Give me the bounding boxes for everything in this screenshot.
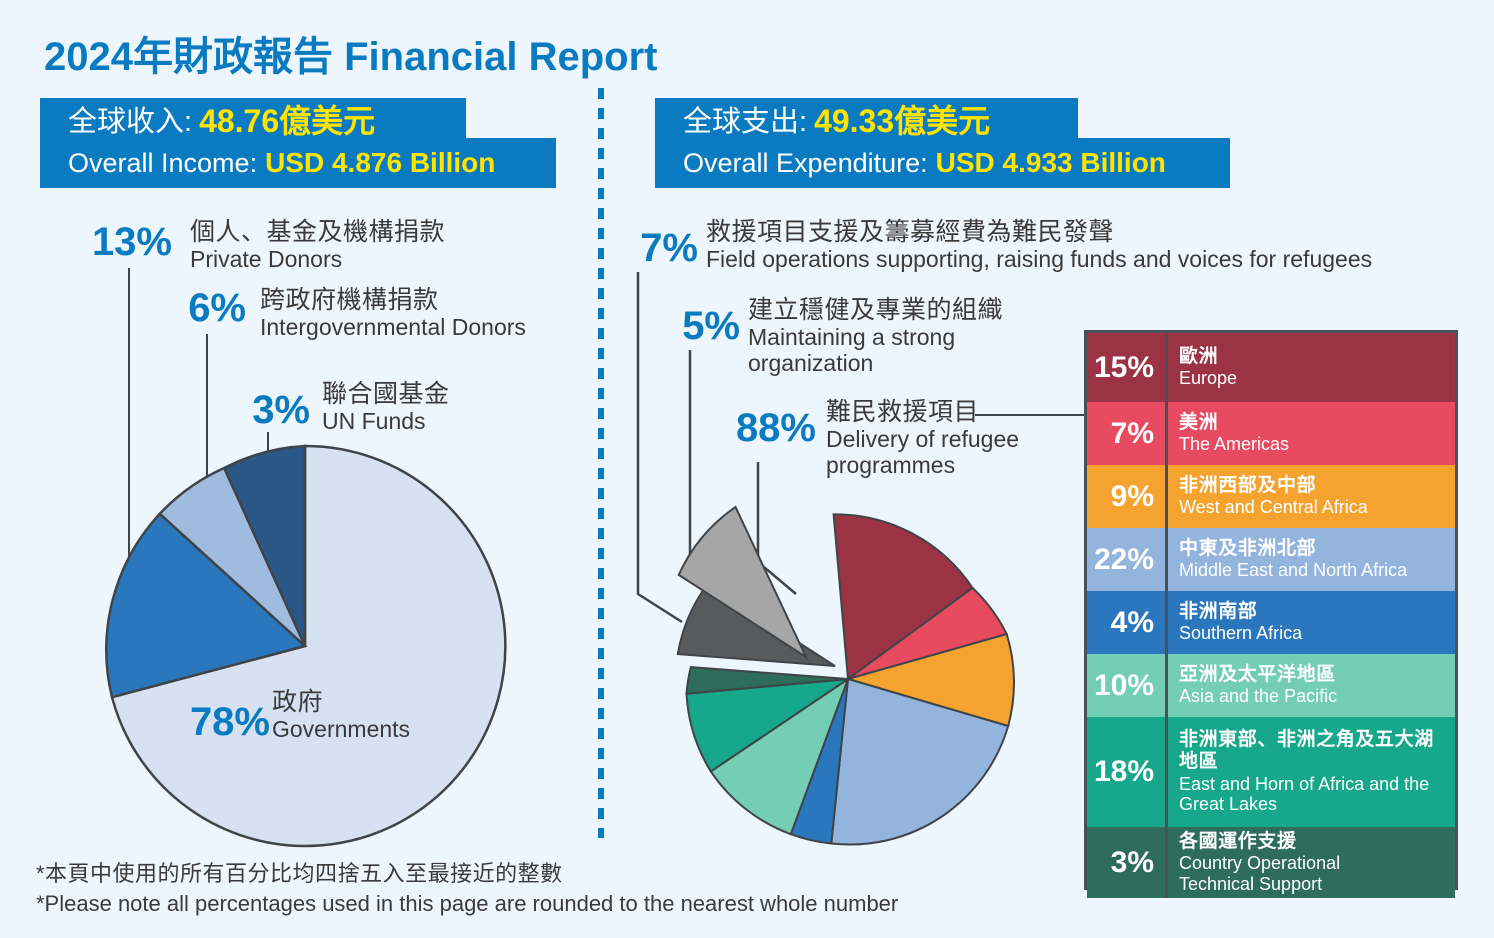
legend-en-americas: The Americas <box>1179 434 1455 455</box>
income-pie-svg <box>100 440 512 852</box>
legend-text-southern-africa: 非洲南部 Southern Africa <box>1168 591 1455 654</box>
legend-text-country-operational-support: 各國運作支援 Country Operational Technical Sup… <box>1168 827 1455 898</box>
expenditure-pie-chart <box>630 495 1050 875</box>
income-en-value: USD 4.876 Billion <box>265 147 495 179</box>
legend-row-americas[interactable]: 7% 美洲 The Americas <box>1087 402 1455 465</box>
income-label-intergov-donors: 跨政府機構捐款 Intergovernmental Donors <box>260 286 526 340</box>
legend-pct-middle-east-north-africa: 22% <box>1087 528 1168 591</box>
income-pct-private-donors: 13% <box>88 222 172 262</box>
page-title-en: Financial Report <box>344 35 657 79</box>
legend-pct-europe: 15% <box>1087 333 1168 402</box>
income-pct-governments: 78% <box>160 702 270 742</box>
legend-en-east-horn-africa: East and Horn of Africa and the Great La… <box>1179 774 1434 815</box>
page-title-zh: 2024年財政報告 <box>44 35 333 79</box>
income-label-un-funds-en: UN Funds <box>322 408 450 434</box>
legend-text-middle-east-north-africa: 中東及非洲北部 Middle East and North Africa <box>1168 528 1455 591</box>
legend-row-east-horn-africa[interactable]: 18% 非洲東部、非洲之角及五大湖地區 East and Horn of Afr… <box>1087 717 1455 827</box>
income-banner-row-en: Overall Income: USD 4.876 Billion <box>40 138 556 188</box>
income-label-private-donors: 個人、基金及機構捐款 Private Donors <box>190 218 445 272</box>
legend-zh-country-operational-support: 各國運作支援 <box>1179 831 1455 853</box>
legend-pct-asia-pacific: 10% <box>1087 654 1168 717</box>
income-label-un-funds: 聯合國基金 UN Funds <box>322 380 450 434</box>
legend-row-europe[interactable]: 15% 歐洲 Europe <box>1087 333 1455 402</box>
legend-row-country-operational-support[interactable]: 3% 各國運作支援 Country Operational Technical … <box>1087 827 1455 898</box>
expenditure-zh-value: 49.33億美元 <box>814 96 990 142</box>
legend-row-southern-africa[interactable]: 4% 非洲南部 Southern Africa <box>1087 591 1455 654</box>
expenditure-label-field-operations-en: Field operations supporting, raising fun… <box>706 246 1372 272</box>
footnote-en: *Please note all percentages used in thi… <box>36 889 898 919</box>
expenditure-en-value: USD 4.933 Billion <box>936 147 1166 179</box>
legend-en-west-central-africa: West and Central Africa <box>1179 497 1455 518</box>
income-label-un-funds-zh: 聯合國基金 <box>322 380 450 408</box>
legend-en-country-operational-support: Country Operational Technical Support <box>1179 853 1389 894</box>
expenditure-label-strong-organization-zh: 建立穩健及專業的組織 <box>748 296 1008 324</box>
income-label-governments: 政府 Governments <box>272 688 410 742</box>
income-label-private-donors-en: Private Donors <box>190 246 445 272</box>
legend-zh-asia-pacific: 亞洲及太平洋地區 <box>1179 664 1455 686</box>
income-pie-chart <box>100 440 512 852</box>
legend-row-asia-pacific[interactable]: 10% 亞洲及太平洋地區 Asia and the Pacific <box>1087 654 1455 717</box>
legend-text-west-central-africa: 非洲西部及中部 West and Central Africa <box>1168 465 1455 528</box>
footnote: *本頁中使用的所有百分比均四捨五入至最接近的整數 *Please note al… <box>36 860 898 918</box>
income-label-intergov-donors-en: Intergovernmental Donors <box>260 314 526 340</box>
expenditure-label-refugee-programmes-zh: 難民救援項目 <box>826 398 1046 426</box>
income-banner-row-zh: 全球收入: 48.76億美元 <box>40 98 466 140</box>
legend-zh-east-horn-africa: 非洲東部、非洲之角及五大湖地區 <box>1179 729 1434 773</box>
income-pct-intergov-donors: 6% <box>162 288 246 328</box>
legend-text-east-horn-africa: 非洲東部、非洲之角及五大湖地區 East and Horn of Africa … <box>1168 717 1455 827</box>
expenditure-banner-row-zh: 全球支出: 49.33億美元 <box>655 98 1078 140</box>
legend-zh-europe: 歐洲 <box>1179 346 1455 368</box>
expenditure-zh-label: 全球支出: <box>683 98 807 140</box>
leader-line-legend-connector <box>975 414 1087 416</box>
income-zh-value: 48.76億美元 <box>199 96 375 142</box>
legend-row-middle-east-north-africa[interactable]: 22% 中東及非洲北部 Middle East and North Africa <box>1087 528 1455 591</box>
legend-zh-middle-east-north-africa: 中東及非洲北部 <box>1179 538 1455 560</box>
legend-pct-country-operational-support: 3% <box>1087 827 1168 898</box>
legend-text-asia-pacific: 亞洲及太平洋地區 Asia and the Pacific <box>1168 654 1455 717</box>
footnote-zh: *本頁中使用的所有百分比均四捨五入至最接近的整數 <box>36 860 898 889</box>
legend-pct-americas: 7% <box>1087 402 1168 465</box>
expenditure-pct-field-operations: 7% <box>626 228 698 268</box>
legend-pct-west-central-africa: 9% <box>1087 465 1168 528</box>
income-label-private-donors-zh: 個人、基金及機構捐款 <box>190 218 445 246</box>
income-label-intergov-donors-zh: 跨政府機構捐款 <box>260 286 526 314</box>
legend-text-americas: 美洲 The Americas <box>1168 402 1455 465</box>
legend-en-europe: Europe <box>1179 368 1455 389</box>
legend-en-middle-east-north-africa: Middle East and North Africa <box>1179 560 1455 581</box>
legend-text-europe: 歐洲 Europe <box>1168 333 1455 402</box>
expenditure-en-label: Overall Expenditure: <box>683 148 928 179</box>
legend-pct-southern-africa: 4% <box>1087 591 1168 654</box>
legend-pct-east-horn-africa: 18% <box>1087 717 1168 827</box>
income-label-governments-en: Governments <box>272 716 410 742</box>
income-label-governments-zh: 政府 <box>272 688 410 716</box>
legend-row-west-central-africa[interactable]: 9% 非洲西部及中部 West and Central Africa <box>1087 465 1455 528</box>
legend-zh-west-central-africa: 非洲西部及中部 <box>1179 475 1455 497</box>
legend-zh-americas: 美洲 <box>1179 412 1455 434</box>
vertical-dotted-divider <box>598 88 604 838</box>
income-pct-un-funds: 3% <box>226 390 310 430</box>
region-legend-table: 15% 歐洲 Europe 7% 美洲 The Americas 9% 非洲西部… <box>1084 330 1458 890</box>
expenditure-label-field-operations: 救援項目支援及籌募經費為難民發聲 Field operations suppor… <box>706 218 1372 272</box>
legend-zh-southern-africa: 非洲南部 <box>1179 601 1455 623</box>
income-en-label: Overall Income: <box>68 148 257 179</box>
legend-en-southern-africa: Southern Africa <box>1179 623 1455 644</box>
expenditure-banner-row-en: Overall Expenditure: USD 4.933 Billion <box>655 138 1230 188</box>
page-title: 2024年財政報告 Financial Report <box>44 24 658 82</box>
expenditure-pie-svg <box>630 495 1050 875</box>
income-zh-label: 全球收入: <box>68 98 192 140</box>
legend-en-asia-pacific: Asia and the Pacific <box>1179 686 1455 707</box>
expenditure-label-field-operations-zh: 救援項目支援及籌募經費為難民發聲 <box>706 218 1372 246</box>
